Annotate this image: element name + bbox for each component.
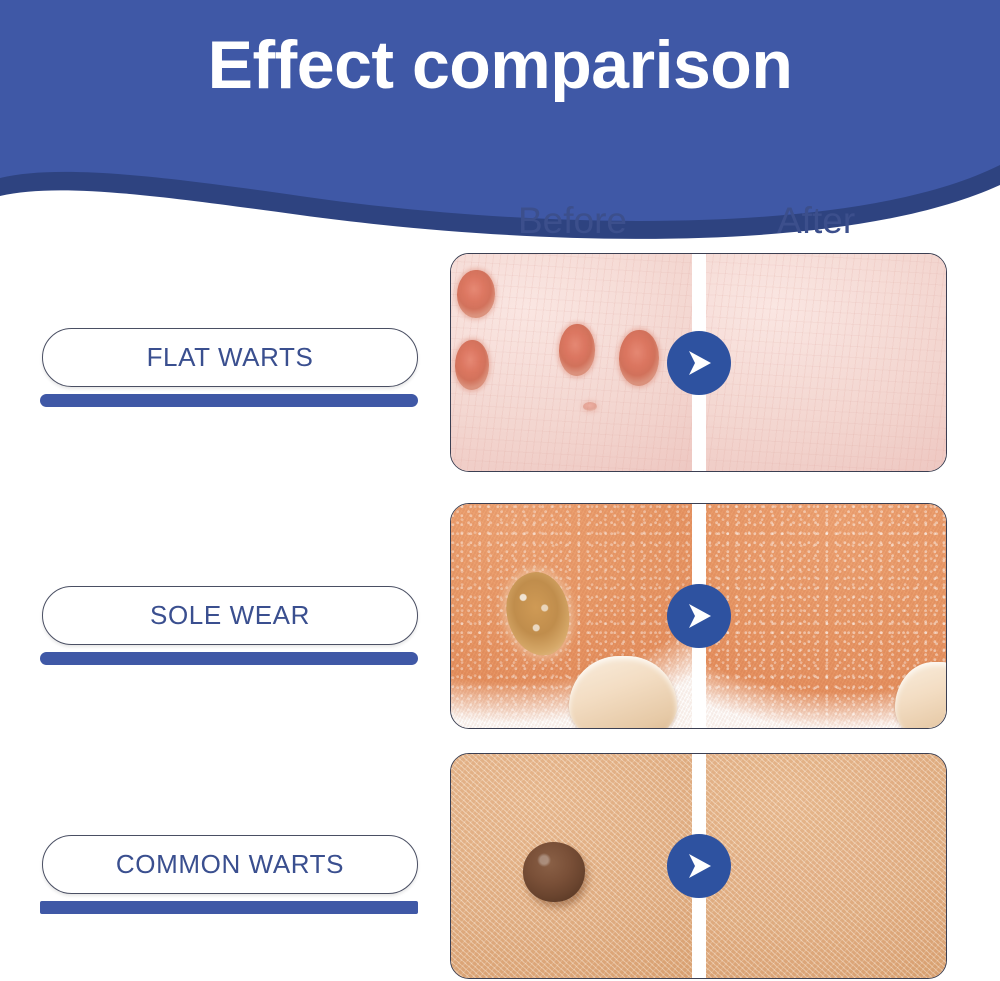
label-pill-text: SOLE WEAR: [150, 600, 310, 631]
wart-nodule: [523, 842, 585, 902]
effect-comparison-page: Effect comparison Before After FLAT WART…: [0, 0, 1000, 981]
row-label-group-flat-warts: FLAT WARTS: [40, 328, 418, 407]
label-pill-sole-wear[interactable]: SOLE WEAR: [42, 586, 418, 645]
comparison-panel-common-warts[interactable]: [450, 753, 947, 979]
play-arrow-icon[interactable]: [667, 584, 731, 648]
after-column-label: After: [777, 200, 855, 242]
row-label-group-common-warts: COMMON WARTS: [40, 835, 418, 914]
wart-blemish: [457, 270, 495, 318]
label-pill-text: FLAT WARTS: [147, 342, 314, 373]
label-underbar-common-warts: [40, 901, 418, 914]
before-image-sole-wear: [451, 504, 699, 728]
comparison-panel-sole-wear[interactable]: [450, 503, 947, 729]
before-image-common-warts: [451, 754, 699, 978]
label-underbar-flat-warts: [40, 394, 418, 407]
after-image-sole-wear: [699, 504, 947, 728]
label-pill-common-warts[interactable]: COMMON WARTS: [42, 835, 418, 894]
skin-texture: [699, 754, 947, 978]
row-label-group-sole-wear: SOLE WEAR: [40, 586, 418, 665]
comparison-panel-flat-warts[interactable]: [450, 253, 947, 472]
play-arrow-icon[interactable]: [667, 331, 731, 395]
wart-blemish: [619, 330, 659, 386]
label-pill-text: COMMON WARTS: [116, 849, 344, 880]
label-pill-flat-warts[interactable]: FLAT WARTS: [42, 328, 418, 387]
wart-blemish: [559, 324, 595, 376]
play-arrow-icon[interactable]: [667, 834, 731, 898]
label-underbar-sole-wear: [40, 652, 418, 665]
skin-texture: [699, 254, 947, 471]
before-column-label: Before: [518, 200, 627, 242]
wart-blemish: [455, 340, 489, 390]
after-image-flat-warts: [699, 254, 947, 471]
after-image-common-warts: [699, 754, 947, 978]
wart-blemish: [583, 402, 597, 411]
page-title: Effect comparison: [0, 30, 1000, 101]
before-image-flat-warts: [451, 254, 699, 471]
